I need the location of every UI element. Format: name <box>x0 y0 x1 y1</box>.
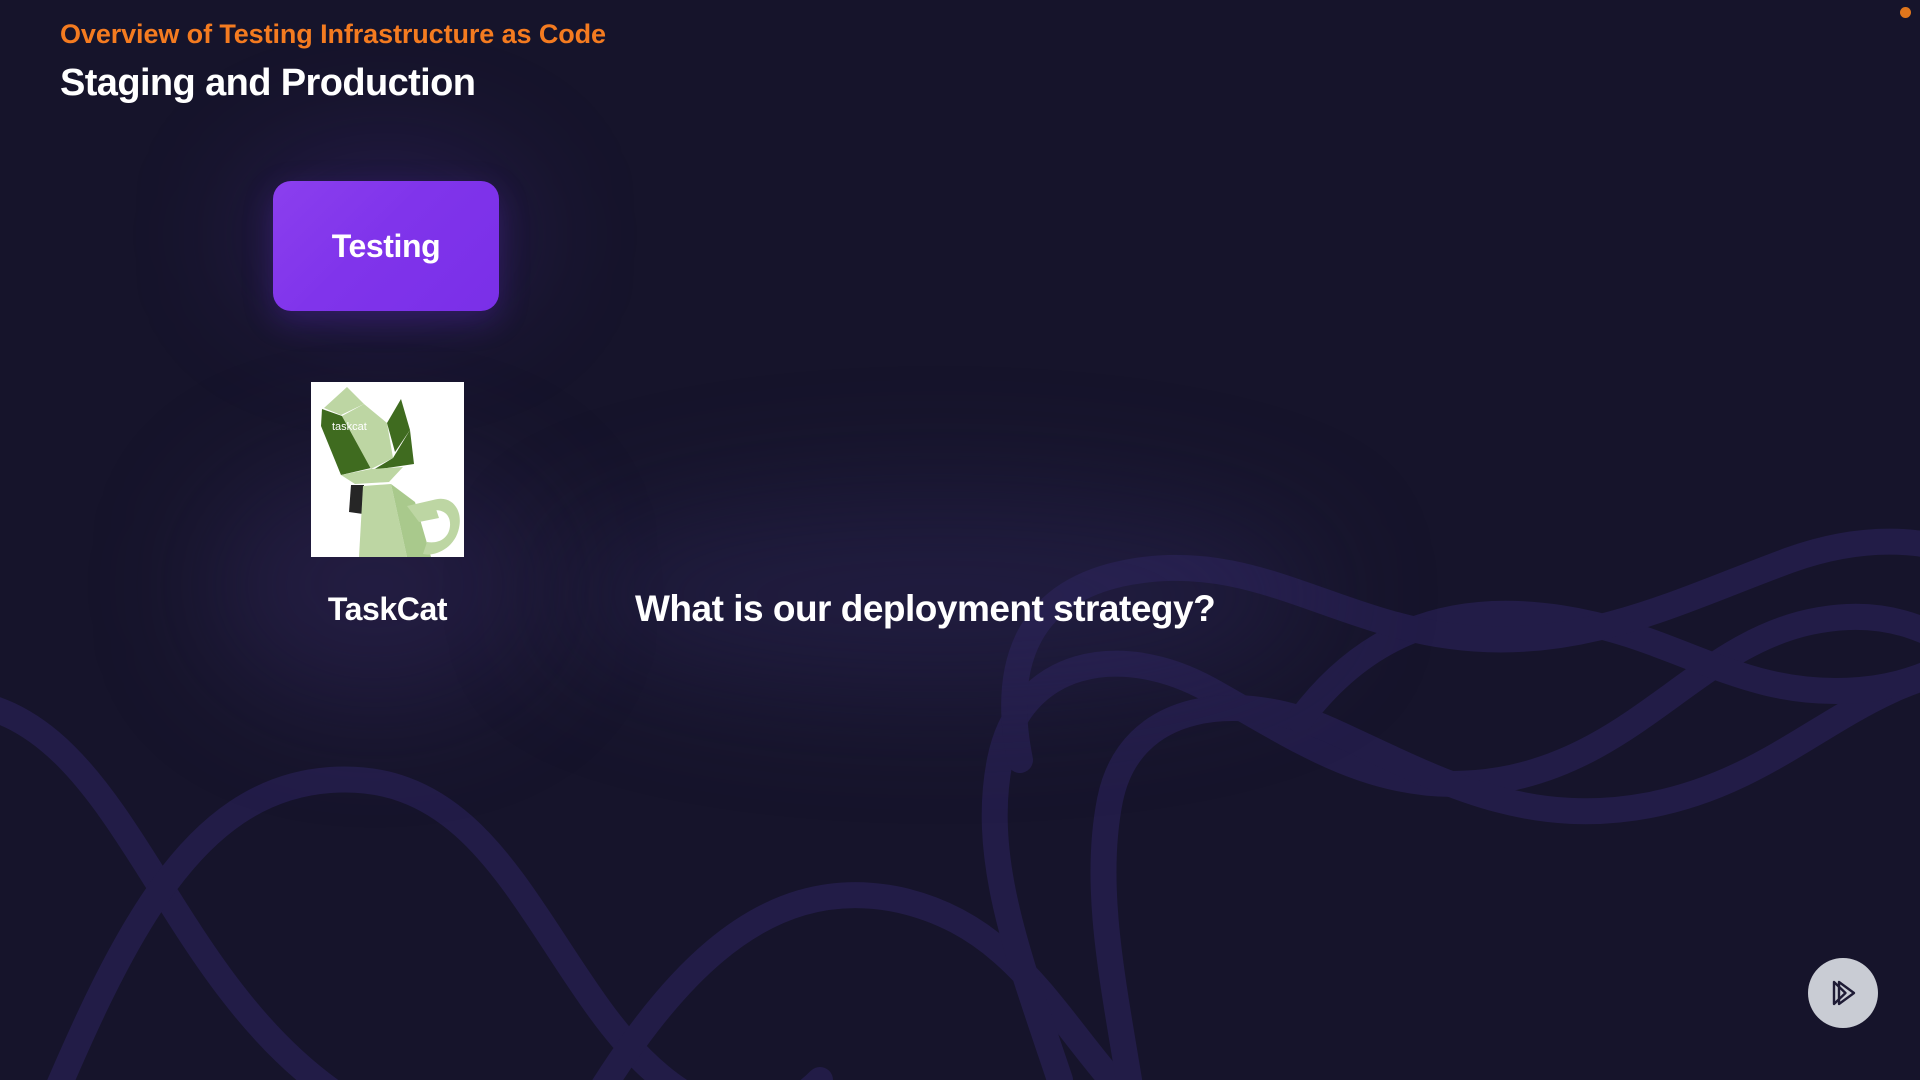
taskcat-card[interactable]: taskcat TaskCat <box>310 382 465 628</box>
taskcat-logo-tile: taskcat <box>311 382 464 557</box>
taskcat-logo-icon: taskcat <box>311 382 464 557</box>
testing-chip-label: Testing <box>332 228 441 265</box>
testing-chip[interactable]: Testing <box>273 181 499 311</box>
slide-header: Overview of Testing Infrastructure as Co… <box>60 18 606 105</box>
play-forward-icon <box>1826 976 1860 1010</box>
play-button[interactable] <box>1808 958 1878 1028</box>
slide-eyebrow: Overview of Testing Infrastructure as Co… <box>60 18 606 52</box>
status-dot-icon <box>1900 7 1911 18</box>
slide-canvas: Overview of Testing Infrastructure as Co… <box>0 0 1920 1080</box>
taskcat-wordmark: taskcat <box>332 421 367 433</box>
page-title: Staging and Production <box>60 62 606 106</box>
taskcat-caption: TaskCat <box>328 591 447 628</box>
decorative-waves <box>0 0 1920 1080</box>
question-text: What is our deployment strategy? <box>635 588 1215 630</box>
